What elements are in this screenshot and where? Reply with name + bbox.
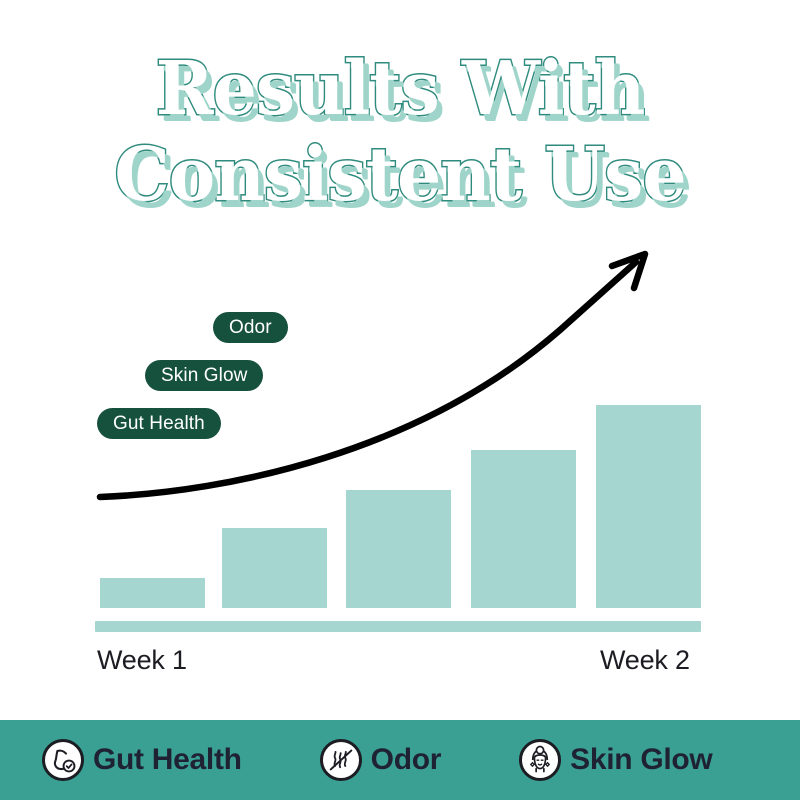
footer-label-gut-health: Gut Health <box>93 743 242 777</box>
promo-graphic-canvas: Results With Consistent Use Odor Skin Gl… <box>0 0 800 800</box>
footer-label-odor: Odor <box>371 743 441 777</box>
footer-item-odor[interactable]: Odor <box>320 739 441 781</box>
stomach-check-icon <box>42 739 84 781</box>
x-axis-tick-week-2: Week 2 <box>600 645 690 676</box>
benefits-footer-bar: Gut Health Odor <box>0 720 800 800</box>
no-odor-waves-icon <box>320 739 362 781</box>
annotation-pill-gut-health-label: Gut Health <box>113 413 205 435</box>
annotation-pill-skin-glow-label: Skin Glow <box>161 365 247 387</box>
annotation-pill-gut-health[interactable]: Gut Health <box>97 408 221 439</box>
footer-item-skin-glow[interactable]: Skin Glow <box>519 739 712 781</box>
footer-label-skin-glow: Skin Glow <box>570 743 712 777</box>
x-axis-tick-week-1: Week 1 <box>97 645 187 676</box>
annotation-pill-skin-glow[interactable]: Skin Glow <box>145 360 263 391</box>
annotation-pill-odor-label: Odor <box>229 317 272 339</box>
growth-trend-arrow-icon <box>0 0 800 720</box>
footer-item-gut-health[interactable]: Gut Health <box>42 739 242 781</box>
bar-chart: Odor Skin Glow Gut Health Week 1 Week 2 <box>0 0 800 720</box>
glowing-face-icon <box>519 739 561 781</box>
annotation-pill-odor[interactable]: Odor <box>213 312 288 343</box>
